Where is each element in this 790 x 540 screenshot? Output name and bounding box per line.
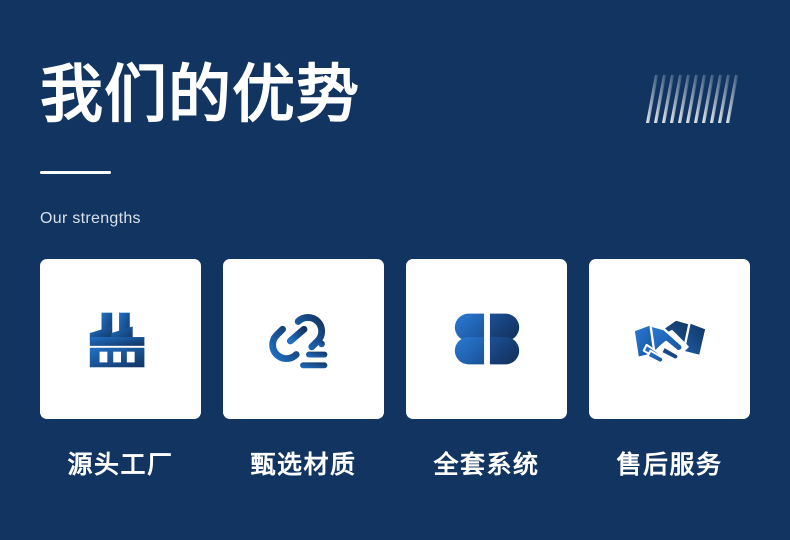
diagonal-stripes-decoration [643, 75, 745, 123]
advantage-card-2-label: 甄选材质 [250, 445, 356, 481]
advantage-card-1-label: 源头工厂 [67, 445, 173, 481]
advantage-card-list: 源头工厂 [40, 259, 750, 481]
advantage-card-4-tile[interactable] [589, 259, 750, 419]
page-title: 我们的优势 [40, 61, 360, 129]
advantage-card-2[interactable]: 甄选材质 [223, 259, 384, 481]
advantage-card-4[interactable]: 售后服务 [589, 259, 750, 481]
chain-link-icon [265, 300, 343, 378]
advantages-section: 我们的优势 Our strengths [0, 0, 790, 540]
advantage-card-3-label: 全套系统 [433, 445, 539, 481]
advantage-card-1[interactable]: 源头工厂 [40, 259, 201, 481]
handshake-icon [631, 300, 709, 378]
advantage-card-4-label: 售后服务 [616, 445, 722, 481]
advantage-card-2-tile[interactable] [223, 259, 384, 419]
four-petal-icon [448, 300, 526, 378]
advantage-card-3-tile[interactable] [406, 259, 567, 419]
title-underline [40, 171, 111, 174]
diagonal-stripes-icon [643, 75, 745, 123]
advantage-card-1-tile[interactable] [40, 259, 201, 419]
page-subtitle: Our strengths [40, 210, 141, 228]
factory-icon [82, 300, 160, 378]
advantage-card-3[interactable]: 全套系统 [406, 259, 567, 481]
